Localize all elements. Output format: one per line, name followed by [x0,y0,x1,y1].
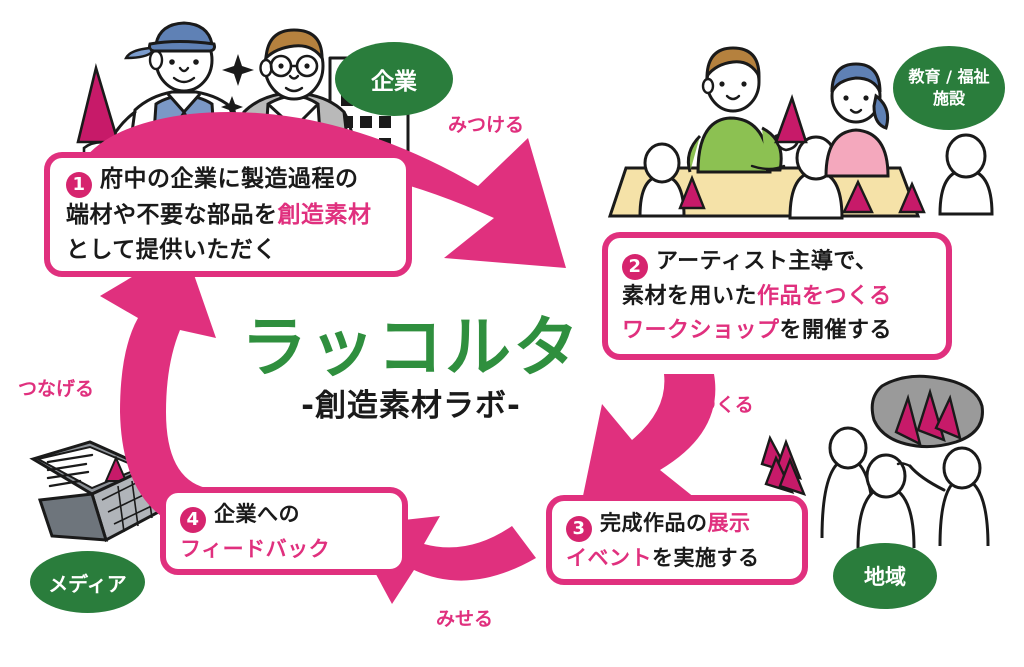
step-2-line-1-seg-1: アーティスト主導で、 [656,249,877,274]
step-3-text: 3完成作品の展示 イベントを実施する [552,501,802,579]
step-1-line-2: 端材や不要な部品を創造素材 [66,198,390,233]
step-2-line-3: ワークショップを開催する [622,314,932,348]
step-2-line-2: 素材を用いた作品をつくる [622,280,932,314]
step-1-line-3: として提供いただく [66,233,390,268]
step-2-line-2-seg-1: 素材を用いた [622,284,757,309]
step-3-line-1-seg-1: 完成作品の [600,511,708,535]
step-2-line-2-seg-2: 作品をつくる [757,284,892,309]
step-4-line-2: フィードバック [180,533,388,565]
step-4-line-2-seg-1: フィードバック [180,537,330,561]
step-3-line-2-seg-1: イベント [566,546,652,570]
step-3-line-2: イベントを実施する [566,542,788,574]
step-1-line-1: 1府中の企業に製造過程の [66,162,390,198]
step-4-number: 4 [180,507,206,533]
step-2-text: 2アーティスト主導で、 素材を用いた作品をつくる ワークショップを開催する [608,238,946,354]
step-1-line-2-seg-2: 創造素材 [278,202,372,228]
badge-kigyo: 企業 [335,42,453,116]
rakkoruta-logo: ラッコルタ -創造素材ラボ- [236,312,586,426]
step-1-text: 1府中の企業に製造過程の 端材や不要な部品を創造素材 として提供いただく [50,158,406,271]
logo-subtitle: -創造素材ラボ- [236,386,586,426]
step-2-number: 2 [622,254,648,280]
step-4-line-1: 4企業への [180,498,388,533]
step-2-bubble[interactable]: 2アーティスト主導で、 素材を用いた作品をつくる ワークショップを開催する [602,232,952,360]
arrow-label-tsunageru: つなげる [18,374,94,401]
badge-kyoiku-line-1: 教育 / 福祉 [909,66,990,88]
step-4-bubble[interactable]: 4企業への フィードバック [160,487,408,575]
infographic-canvas: .ln{fill:none;stroke:#1a1a1a;stroke-widt… [0,0,1024,667]
logo-title: ラッコルタ [236,312,586,384]
step-2-line-3-seg-2: を開催する [780,318,893,343]
step-4-text: 4企業への フィードバック [166,493,402,569]
step-3-line-2-seg-2: を実施する [652,546,760,570]
step-4-line-1-seg-1: 企業への [214,502,300,526]
badge-media: メディア [30,551,145,613]
step-1-bubble[interactable]: 1府中の企業に製造過程の 端材や不要な部品を創造素材 として提供いただく [44,152,412,277]
step-1-line-1-seg-1: 府中の企業に製造過程の [100,166,359,192]
step-3-line-1: 3完成作品の展示 [566,507,788,542]
badge-kyoiku-line-2: 施設 [909,88,990,110]
step-3-line-1-seg-2: 展示 [708,511,751,535]
step-1-number: 1 [66,172,92,198]
step-1-line-3-seg-1: として提供いただく [66,237,277,263]
step-1-line-2-seg-1: 端材や不要な部品を [66,202,278,228]
arrow-label-miseru: みせる [436,604,493,631]
step-3-bubble[interactable]: 3完成作品の展示 イベントを実施する [546,495,808,585]
arrow-label-mitsukeru: みつける [448,110,524,137]
step-2-line-1: 2アーティスト主導で、 [622,245,932,280]
badge-chiiki: 地域 [833,543,937,609]
badge-kyoiku: 教育 / 福祉 施設 [893,46,1005,130]
step-3-number: 3 [566,516,592,542]
arrow-label-tsukuru: つくる [697,390,754,417]
step-2-line-3-seg-1: ワークショップ [622,318,780,343]
